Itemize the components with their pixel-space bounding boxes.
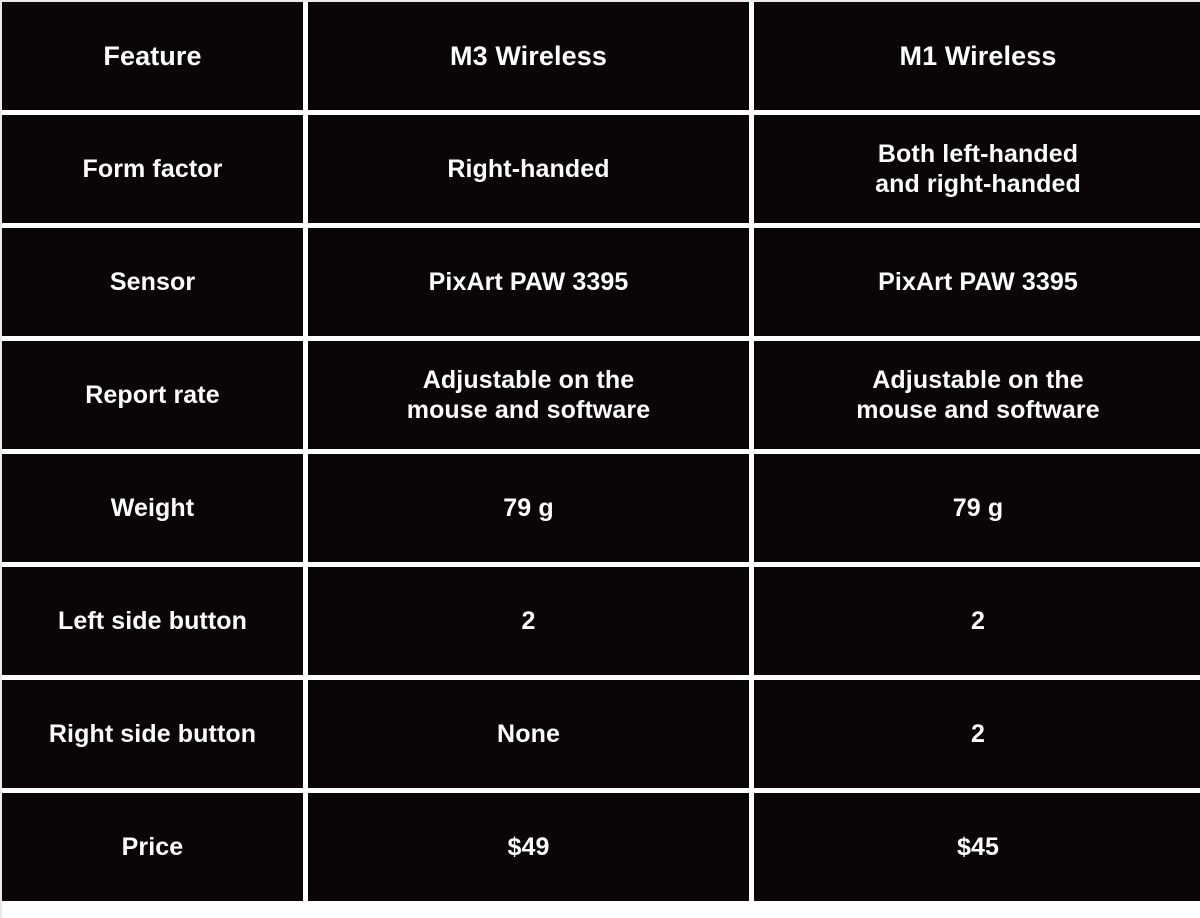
cell-m1-wireless: 79 g	[754, 454, 1200, 567]
row-feature-label: Right side button	[2, 680, 308, 793]
cell-line: mouse and software	[764, 395, 1192, 426]
cell-line: 79 g	[764, 493, 1192, 524]
cell-m1-wireless: Both left-handedand right-handed	[754, 115, 1200, 228]
cell-line: $45	[764, 832, 1192, 863]
row-feature-label: Report rate	[2, 341, 308, 454]
cell-m1-wireless: Adjustable on themouse and software	[754, 341, 1200, 454]
table-row: SensorPixArt PAW 3395PixArt PAW 3395	[2, 228, 1200, 341]
table-row: Right side buttonNone2	[2, 680, 1200, 793]
row-feature-label: Weight	[2, 454, 308, 567]
cell-m3-wireless: PixArt PAW 3395	[308, 228, 754, 341]
cell-line: 2	[764, 719, 1192, 750]
cell-m3-wireless: $49	[308, 793, 754, 906]
table-row: Price$49$45	[2, 793, 1200, 906]
cell-m3-wireless: 2	[308, 567, 754, 680]
table-row: Report rateAdjustable on themouse and so…	[2, 341, 1200, 454]
cell-m3-wireless: None	[308, 680, 754, 793]
column-header-m1-wireless: M1 Wireless	[754, 2, 1200, 115]
cell-m1-wireless: $45	[754, 793, 1200, 906]
row-feature-label: Sensor	[2, 228, 308, 341]
cell-m3-wireless: Adjustable on themouse and software	[308, 341, 754, 454]
column-header-feature: Feature	[2, 2, 308, 115]
table-row: Left side button22	[2, 567, 1200, 680]
cell-line: Adjustable on the	[318, 365, 739, 396]
table-body: Form factorRight-handedBoth left-handeda…	[2, 115, 1200, 906]
cell-line: PixArt PAW 3395	[318, 267, 739, 298]
cell-line: Right-handed	[318, 154, 739, 185]
cell-line: Both left-handed	[764, 139, 1192, 170]
cell-m3-wireless: Right-handed	[308, 115, 754, 228]
cell-line: $49	[318, 832, 739, 863]
table-header-row: Feature M3 Wireless M1 Wireless	[2, 2, 1200, 115]
cell-line: 2	[764, 606, 1192, 637]
cell-m1-wireless: 2	[754, 567, 1200, 680]
cell-m1-wireless: 2	[754, 680, 1200, 793]
row-feature-label: Left side button	[2, 567, 308, 680]
row-feature-label: Price	[2, 793, 308, 906]
cell-line: mouse and software	[318, 395, 739, 426]
mouse-comparison-table: Feature M3 Wireless M1 Wireless Form fac…	[2, 2, 1200, 906]
cell-line: 2	[318, 606, 739, 637]
comparison-table-container: Feature M3 Wireless M1 Wireless Form fac…	[0, 0, 1200, 918]
table-header: Feature M3 Wireless M1 Wireless	[2, 2, 1200, 115]
column-header-m3-wireless: M3 Wireless	[308, 2, 754, 115]
cell-line: and right-handed	[764, 169, 1192, 200]
cell-line: 79 g	[318, 493, 739, 524]
cell-m3-wireless: 79 g	[308, 454, 754, 567]
row-feature-label: Form factor	[2, 115, 308, 228]
table-row: Weight79 g79 g	[2, 454, 1200, 567]
cell-line: PixArt PAW 3395	[764, 267, 1192, 298]
cell-m1-wireless: PixArt PAW 3395	[754, 228, 1200, 341]
table-row: Form factorRight-handedBoth left-handeda…	[2, 115, 1200, 228]
cell-line: None	[318, 719, 739, 750]
cell-line: Adjustable on the	[764, 365, 1192, 396]
